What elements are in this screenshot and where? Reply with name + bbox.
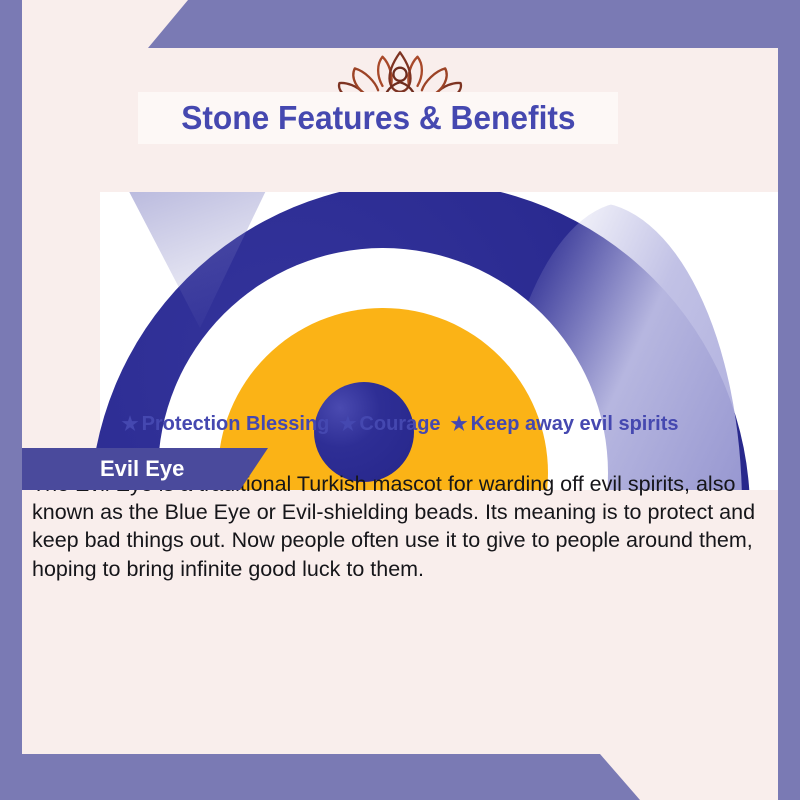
- feature-label: Protection Blessing: [142, 413, 330, 436]
- frame-band-left: [0, 0, 22, 800]
- feature-label: Courage: [359, 413, 440, 436]
- star-icon: ★: [451, 415, 468, 434]
- poster-inner-page: BUDDHA STONES Evil Eye ★ Protection Bles…: [22, 48, 778, 754]
- frame-band-right: [778, 0, 800, 800]
- feature-list: ★ Protection Blessing ★ Courage ★ Keep a…: [22, 413, 778, 436]
- star-icon: ★: [122, 415, 139, 434]
- product-label-bar: Evil Eye: [22, 448, 268, 490]
- feature-item: ★ Courage: [336, 413, 443, 436]
- feature-label: Keep away evil spirits: [471, 413, 679, 436]
- title-banner: Stone Features & Benefits: [138, 92, 618, 144]
- product-label-text: Evil Eye: [100, 456, 184, 482]
- feature-item: ★ Keep away evil spirits: [448, 413, 682, 436]
- evil-eye-bead-icon: [22, 192, 778, 490]
- product-feature-poster: BUDDHA STONES Evil Eye ★ Protection Bles…: [0, 0, 800, 800]
- feature-item: ★ Protection Blessing: [119, 413, 333, 436]
- frame-band-bottom: [0, 754, 800, 800]
- page-title: Stone Features & Benefits: [181, 99, 575, 137]
- frame-band-top: [0, 0, 800, 48]
- star-icon: ★: [339, 415, 356, 434]
- product-image-panel: Evil Eye: [22, 192, 778, 490]
